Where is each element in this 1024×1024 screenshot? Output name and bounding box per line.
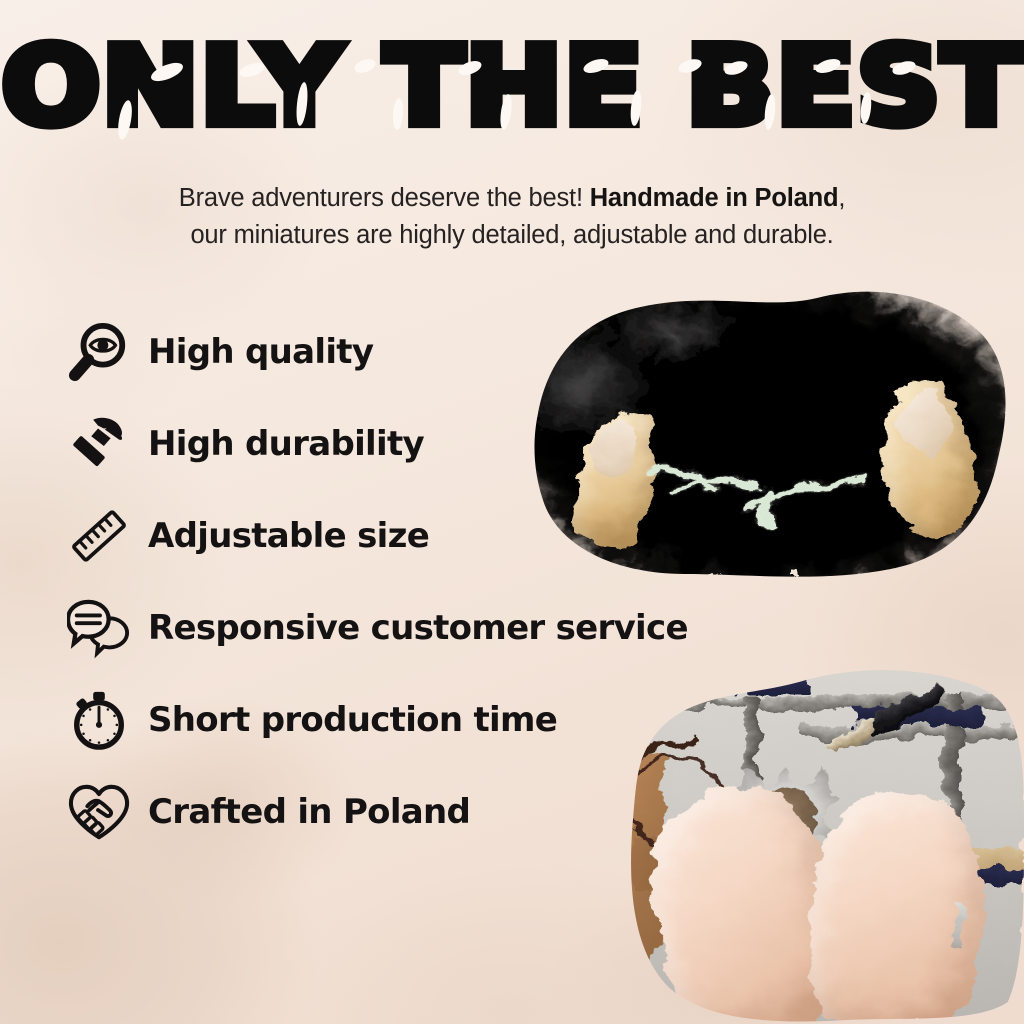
heart-handshake-icon (62, 775, 136, 849)
feature-item-short-production-time: Short production time (62, 674, 762, 766)
feature-label: High quality (148, 332, 373, 372)
feature-label: Short production time (148, 700, 557, 740)
subtitle-emphasis: Handmade in Poland (590, 184, 839, 212)
feature-label: Crafted in Poland (148, 792, 470, 832)
subtitle-text-pre: Brave adventurers deserve the best! (179, 184, 590, 212)
speech-bubbles-icon (62, 591, 136, 665)
stopwatch-icon (62, 683, 136, 757)
ruler-icon (62, 499, 136, 573)
feature-item-high-quality: High quality (62, 306, 762, 398)
feature-item-high-durability: High durability (62, 398, 762, 490)
promo-poster: ONLY THE BEST Brav (0, 0, 1024, 1024)
magnifier-eye-icon (62, 315, 136, 389)
subtitle-text-post: , (838, 184, 845, 212)
feature-label: High durability (148, 424, 424, 464)
feature-item-adjustable-size: Adjustable size (62, 490, 762, 582)
feature-list: High quality High durability (62, 306, 762, 858)
feature-label: Responsive customer service (148, 608, 688, 648)
headline-container: ONLY THE BEST (0, 34, 1024, 138)
feature-item-crafted-in-poland: Crafted in Poland (62, 766, 762, 858)
subtitle-line-1: Brave adventurers deserve the best! Hand… (179, 184, 845, 212)
hammer-icon (62, 407, 136, 481)
feature-item-responsive-customer-service: Responsive customer service (62, 582, 762, 674)
feature-label: Adjustable size (148, 516, 429, 556)
subtitle: Brave adventurers deserve the best! Hand… (0, 180, 1024, 254)
page-title: ONLY THE BEST (2, 32, 1023, 140)
subtitle-line-2: our miniatures are highly detailed, adju… (190, 221, 833, 249)
